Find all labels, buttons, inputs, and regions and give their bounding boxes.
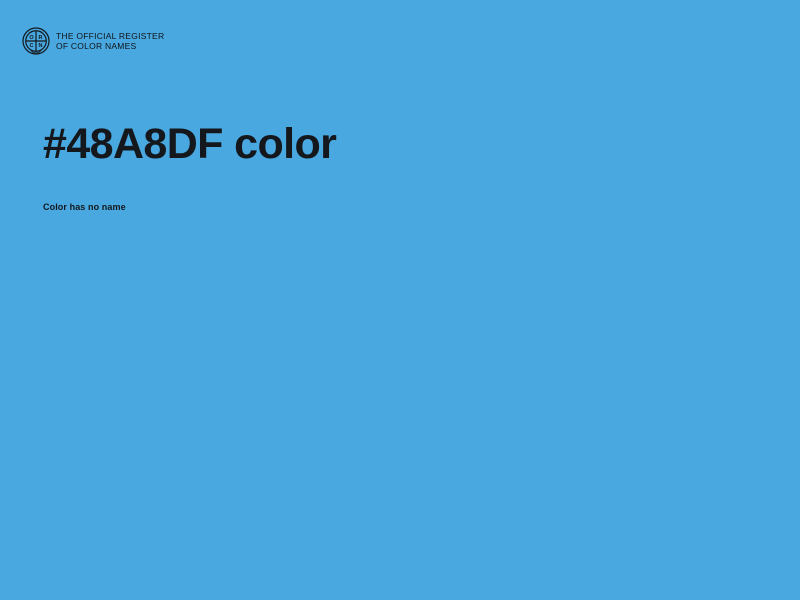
register-seal-icon: O R C N — [22, 27, 50, 55]
svg-text:C: C — [30, 43, 34, 49]
svg-text:N: N — [39, 43, 43, 49]
svg-text:O: O — [29, 35, 34, 41]
page-title: #48A8DF color — [43, 118, 743, 170]
site-logo-wordmark: THE OFFICIAL REGISTER OF COLOR NAMES — [56, 31, 164, 51]
color-info-block: #48A8DF color Color has no name — [43, 118, 743, 213]
color-detail-page: O R C N THE OFFICIAL REGISTER OF COLOR N… — [0, 0, 800, 600]
site-logo[interactable]: O R C N THE OFFICIAL REGISTER OF COLOR N… — [22, 27, 164, 55]
site-logo-wordmark-line-2: OF COLOR NAMES — [56, 42, 164, 52]
svg-text:R: R — [39, 35, 43, 41]
color-name-status: Color has no name — [43, 170, 743, 213]
